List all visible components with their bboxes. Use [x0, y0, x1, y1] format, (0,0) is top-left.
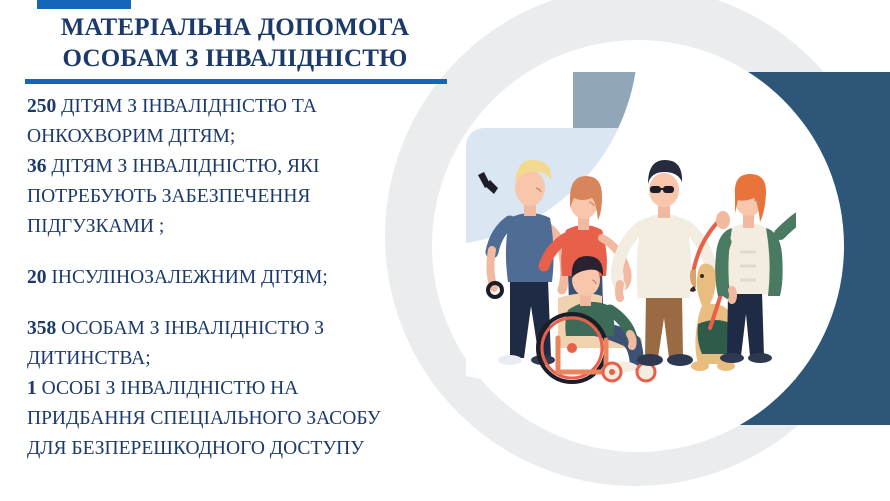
item-text: ОСОБІ З ІНВАЛІДНІСТЮ НА — [37, 378, 299, 399]
item-text: ДИТИНСТВА; — [27, 348, 151, 369]
list-item: ДИТИНСТВА; — [27, 344, 447, 374]
list-item: ПІДГУЗКАМИ ; — [27, 212, 447, 242]
item-text: ОНКОХВОРИМ ДІТЯМ; — [27, 126, 235, 147]
people-illustration — [440, 110, 840, 400]
item-number: 36 — [27, 156, 47, 177]
item-text: ПІДГУЗКАМИ ; — [27, 216, 164, 237]
title-underline-rule — [25, 79, 447, 84]
item-text: ПРИДБАННЯ СПЕЦІАЛЬНОГО ЗАСОБУ — [27, 408, 381, 429]
item-number: 1 — [27, 378, 37, 399]
list-item: 1 ОСОБІ З ІНВАЛІДНІСТЮ НА — [27, 374, 447, 404]
figure-man-with-prosthetic-arm — [478, 160, 565, 365]
title-line-2: ОСОБАМ З ІНВАЛІДНІСТЮ — [10, 43, 460, 74]
item-text: ПОТРЕБУЮТЬ ЗАБЕЗПЕЧЕННЯ — [27, 186, 310, 207]
item-text: ДІТЯМ З ІНВАЛІДНІСТЮ, ЯКІ — [47, 156, 320, 177]
title-line-1: МАТЕРІАЛЬНА ДОПОМОГА — [10, 12, 460, 43]
slide: МАТЕРІАЛЬНА ДОПОМОГА ОСОБАМ З ІНВАЛІДНІС… — [0, 0, 890, 501]
list-item: ОНКОХВОРИМ ДІТЯМ; — [27, 122, 447, 152]
item-text: ІНСУЛІНОЗАЛЕЖНИМ ДІТЯМ; — [47, 267, 328, 288]
list-item: ПОТРЕБУЮТЬ ЗАБЕЗПЕЧЕННЯ — [27, 182, 447, 212]
item-number: 358 — [27, 318, 56, 339]
item-text: ДЛЯ БЕЗПЕРЕШКОДНОГО ДОСТУПУ — [27, 438, 364, 459]
top-accent-bar — [37, 0, 131, 9]
list-item: 358 ОСОБАМ З ІНВАЛІДНІСТЮ З — [27, 314, 447, 344]
beneficiary-list: 250 ДІТЯМ З ІНВАЛІДНІСТЮ ТА ОНКОХВОРИМ Д… — [27, 92, 447, 464]
item-number: 20 — [27, 267, 47, 288]
hand-on-harness — [716, 211, 730, 229]
list-item: 36 ДІТЯМ З ІНВАЛІДНІСТЮ, ЯКІ — [27, 152, 447, 182]
list-item: 20 ІНСУЛІНОЗАЛЕЖНИМ ДІТЯМ; — [27, 263, 447, 293]
list-item: 250 ДІТЯМ З ІНВАЛІДНІСТЮ ТА — [27, 92, 447, 122]
item-number: 250 — [27, 96, 56, 117]
list-item: ДЛЯ БЕЗПЕРЕШКОДНОГО ДОСТУПУ — [27, 434, 447, 464]
list-item: ПРИДБАННЯ СПЕЦІАЛЬНОГО ЗАСОБУ — [27, 404, 447, 434]
item-text: ДІТЯМ З ІНВАЛІДНІСТЮ ТА — [56, 96, 317, 117]
item-text: ОСОБАМ З ІНВАЛІДНІСТЮ З — [56, 318, 324, 339]
figure-woman-red-hair-raised-arm — [715, 174, 815, 363]
page-title: МАТЕРІАЛЬНА ДОПОМОГА ОСОБАМ З ІНВАЛІДНІС… — [10, 12, 460, 74]
